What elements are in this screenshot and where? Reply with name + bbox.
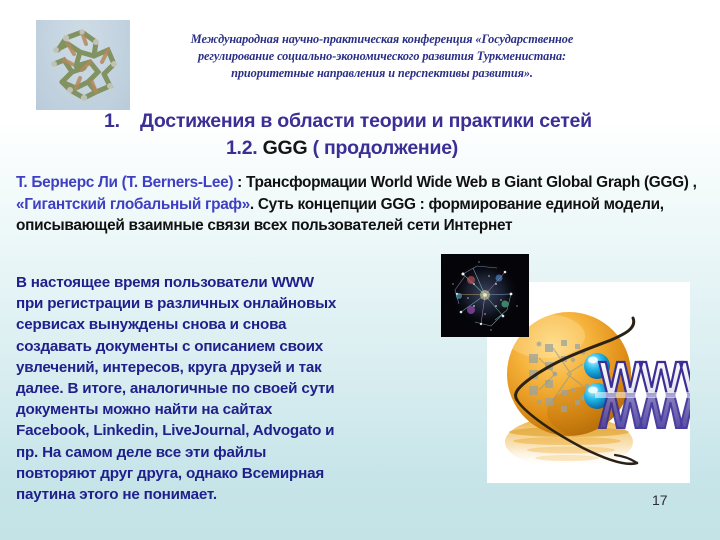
body-paragraph: В настоящее время пользователи WWW при р… <box>16 272 436 505</box>
network-galaxy-image <box>441 254 529 337</box>
body-line: повторяют друг друга, однако Всемирная <box>16 463 436 484</box>
intro-paragraph: Т. Бернерс Ли (T. Berners-Lee) : Трансфо… <box>16 172 706 237</box>
network-galaxy-graphic <box>441 254 529 337</box>
body-line: документы можно найти на сайтах <box>16 399 436 420</box>
slide-subtitle-suffix: ( продолжение) <box>307 137 458 159</box>
slide-number: 17 <box>652 492 668 508</box>
intro-author-name: Т. Бернерс Ли (T. Berners-Lee) <box>16 174 233 191</box>
slide-subtitle-line: 1.2. GGG ( продолжение) <box>0 137 720 160</box>
slide-subtitle-prefix: 1.2. <box>226 137 263 159</box>
intro-segment-1: : Трансформации World Wide Web в Giant G… <box>233 174 696 191</box>
body-line: паутина этого не понимает. <box>16 484 436 505</box>
conference-header-line-1: Международная научно-практическая конфер… <box>148 31 616 48</box>
molecule-network-graphic <box>36 20 130 110</box>
intro-quote: «Гигантский глобальный граф» <box>16 196 250 213</box>
body-line: пр. На самом деле все эти файлы <box>16 442 436 463</box>
slide-title-line-1: 1.Достижения в области теории и практики… <box>0 110 720 133</box>
body-line: Facebook, Linkedin, LiveJournal, Advogat… <box>16 420 436 441</box>
body-line: увлечений, интересов, круга друзей и так <box>16 357 436 378</box>
conference-header-line-3: приоритетные направления и перспективы р… <box>148 65 616 82</box>
slide-title-text: Достижения в области теории и практики с… <box>140 110 592 132</box>
body-line: при регистрации в различных онлайновых <box>16 293 436 314</box>
body-line: создавать документы с описанием своих <box>16 336 436 357</box>
molecule-network-icon <box>36 20 130 110</box>
presentation-slide: Международная научно-практическая конфер… <box>0 0 720 540</box>
conference-header-line-2: регулирование социально-экономического р… <box>148 48 616 65</box>
conference-header: Международная научно-практическая конфер… <box>148 31 616 82</box>
body-line: далее. В итоге, аналогичные по своей сут… <box>16 378 436 399</box>
slide-title-number: 1. <box>104 110 140 133</box>
slide-title: 1.Достижения в области теории и практики… <box>0 110 720 160</box>
slide-subtitle-ggg: GGG <box>263 137 308 159</box>
body-line: сервисах вынуждены снова и снова <box>16 314 436 335</box>
body-line: В настоящее время пользователи WWW <box>16 272 436 293</box>
